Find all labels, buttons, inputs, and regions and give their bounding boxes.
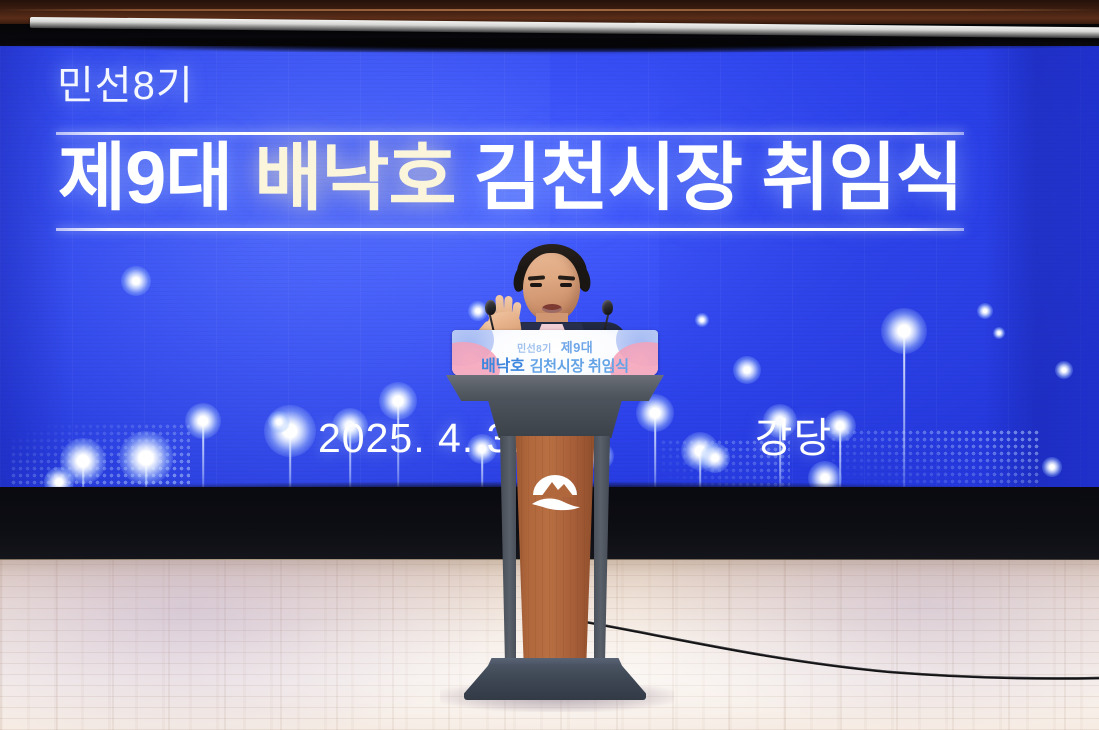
podium-desktop [446, 375, 664, 401]
podium-rail-right [594, 436, 610, 668]
podium-sign-event: 김천시장 취임식 [530, 358, 629, 375]
wall-curve-right [984, 31, 1099, 496]
glow-dot [700, 443, 730, 473]
wall-curve-left [0, 31, 70, 496]
microphone-left [483, 300, 499, 334]
podium-neck [488, 400, 622, 438]
speaker-eye-left [530, 283, 542, 287]
glow-dot [268, 411, 290, 433]
glow-dot [1055, 361, 1073, 379]
microphone-right [600, 300, 616, 334]
speaker-mouth [542, 304, 562, 313]
podium-column [500, 436, 610, 668]
glow-dot [695, 313, 709, 327]
ceiling-seam [0, 9, 1099, 11]
podium-wood-panel [514, 436, 596, 668]
glow-dot [993, 327, 1005, 339]
podium-sign-line-2: 배낙호김천시장 취임식 [452, 352, 658, 376]
photograph-scene: 민선8기 제9대배낙호김천시장 취임식 2025. 4. 3.강당 [0, 0, 1099, 730]
podium-base [464, 664, 646, 700]
speaker-eye-right [560, 283, 572, 287]
glow-dot [121, 266, 151, 296]
glow-dot [1042, 457, 1062, 477]
podium-sign-panel: 민선8기제9대 배낙호김천시장 취임식 [452, 330, 658, 376]
wall-sheen-right [659, 31, 1099, 496]
glow-dot [733, 356, 761, 384]
podium-sign-name: 배낙호 [481, 358, 525, 375]
gimcheon-city-emblem-icon [528, 472, 582, 514]
glow-dot [977, 303, 993, 319]
podium: 민선8기제9대 배낙호김천시장 취임식 [430, 330, 680, 718]
podium-rail-left [500, 436, 516, 668]
